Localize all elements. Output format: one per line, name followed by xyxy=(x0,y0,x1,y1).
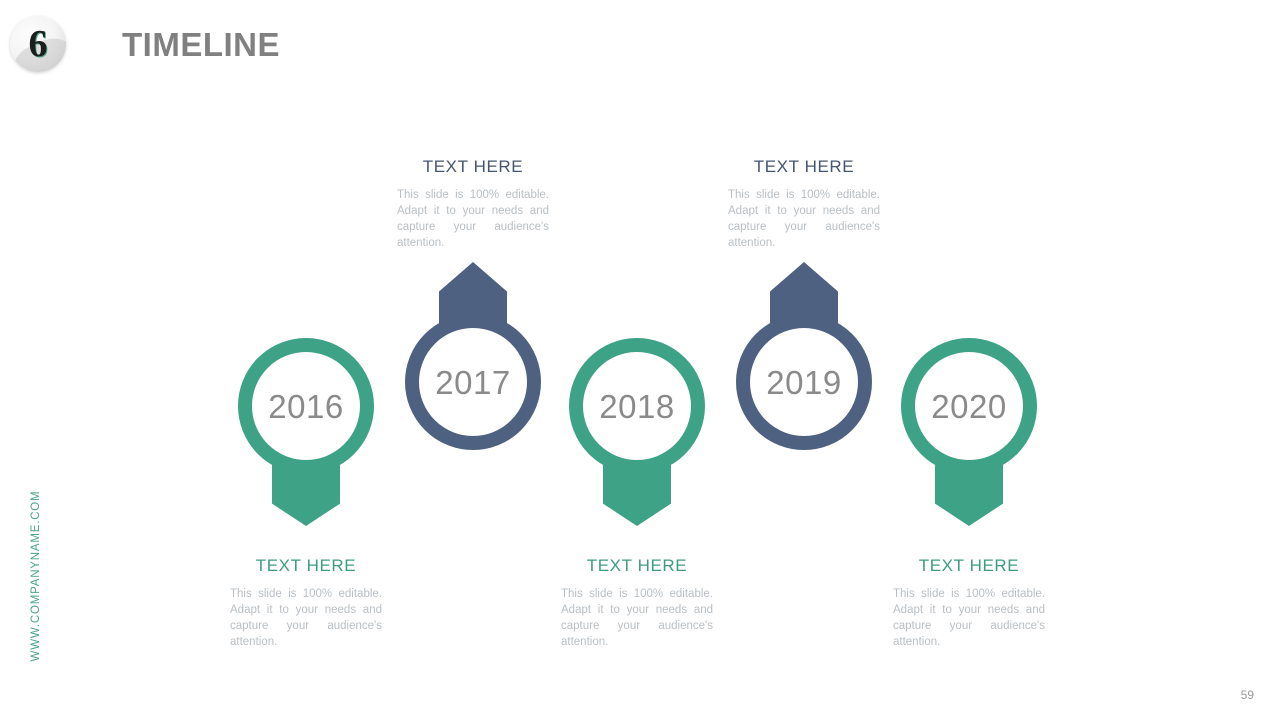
page-number: 59 xyxy=(1241,688,1254,702)
year-label-2017: 2017 xyxy=(405,364,541,402)
caption-title-2017: TEXT HERE xyxy=(397,157,549,177)
caption-body-2020: This slide is 100% editable. Adapt it to… xyxy=(893,586,1045,650)
caption-2019: TEXT HERE This slide is 100% editable. A… xyxy=(728,157,880,251)
caption-title-2016: TEXT HERE xyxy=(230,556,382,576)
year-label-2020: 2020 xyxy=(901,388,1037,426)
milestone-2017[interactable]: 2017 TEXT HERE This slide is 100% editab… xyxy=(383,0,563,720)
caption-2016: TEXT HERE This slide is 100% editable. A… xyxy=(230,556,382,650)
caption-title-2020: TEXT HERE xyxy=(893,556,1045,576)
caption-body-2019: This slide is 100% editable. Adapt it to… xyxy=(728,187,880,251)
caption-body-2016: This slide is 100% editable. Adapt it to… xyxy=(230,586,382,650)
year-label-2016: 2016 xyxy=(238,388,374,426)
milestone-2018[interactable]: 2018 TEXT HERE This slide is 100% editab… xyxy=(547,0,727,720)
caption-2020: TEXT HERE This slide is 100% editable. A… xyxy=(893,556,1045,650)
caption-2017: TEXT HERE This slide is 100% editable. A… xyxy=(397,157,549,251)
caption-body-2017: This slide is 100% editable. Adapt it to… xyxy=(397,187,549,251)
year-label-2018: 2018 xyxy=(569,388,705,426)
pin-marker-2017[interactable]: 2017 xyxy=(405,262,541,452)
pin-marker-2019[interactable]: 2019 xyxy=(736,262,872,452)
caption-2018: TEXT HERE This slide is 100% editable. A… xyxy=(561,556,713,650)
site-url-watermark: WWW.COMPANYNAME.COM xyxy=(30,476,42,676)
pin-marker-2020[interactable]: 2020 xyxy=(901,338,1037,528)
milestone-2019[interactable]: 2019 TEXT HERE This slide is 100% editab… xyxy=(714,0,894,720)
pin-marker-2018[interactable]: 2018 xyxy=(569,338,705,528)
timeline-diagram: 2016 TEXT HERE This slide is 100% editab… xyxy=(0,0,1280,720)
caption-body-2018: This slide is 100% editable. Adapt it to… xyxy=(561,586,713,650)
year-label-2019: 2019 xyxy=(736,364,872,402)
pin-marker-2016[interactable]: 2016 xyxy=(238,338,374,528)
milestone-2016[interactable]: 2016 TEXT HERE This slide is 100% editab… xyxy=(216,0,396,720)
caption-title-2018: TEXT HERE xyxy=(561,556,713,576)
caption-title-2019: TEXT HERE xyxy=(728,157,880,177)
milestone-2020[interactable]: 2020 TEXT HERE This slide is 100% editab… xyxy=(879,0,1059,720)
